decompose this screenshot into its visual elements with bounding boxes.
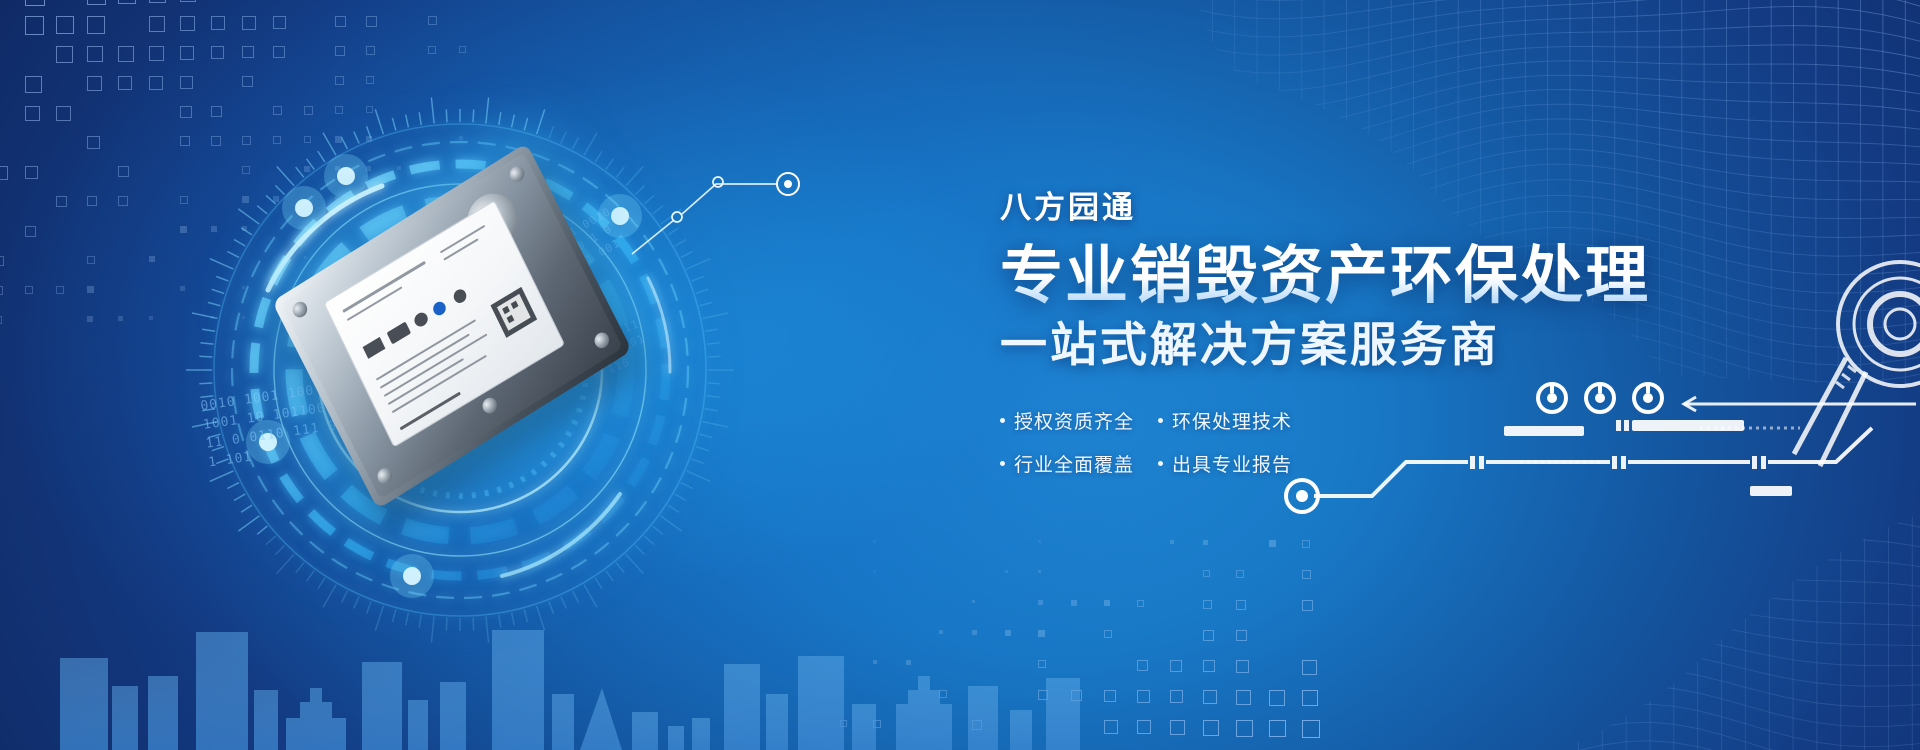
matrix-square <box>242 46 254 58</box>
matrix-square <box>0 316 2 324</box>
matrix-square <box>87 0 106 5</box>
matrix-square <box>873 540 876 543</box>
matrix-square <box>1137 720 1151 734</box>
matrix-square <box>25 106 40 121</box>
subheadline: 一站式解决方案服务商 <box>1000 319 1700 371</box>
headline: 专业销毁资产环保处理 <box>1000 243 1700 309</box>
feature-label: 行业全面覆盖 <box>1014 450 1134 477</box>
feature-item: 出具专业报告 <box>1158 450 1292 477</box>
feature-row: 行业全面覆盖 出具专业报告 <box>1000 450 1700 477</box>
matrix-square <box>1236 660 1249 673</box>
matrix-square <box>1170 690 1183 703</box>
matrix-square <box>1038 570 1041 573</box>
matrix-square <box>242 16 256 30</box>
matrix-square <box>1236 690 1251 705</box>
matrix-square <box>180 46 194 60</box>
feature-row: 授权资质齐全 环保处理技术 <box>1000 407 1700 434</box>
feature-label: 环保处理技术 <box>1172 407 1292 434</box>
feature-item: 授权资质齐全 <box>1000 407 1134 434</box>
matrix-square <box>1236 570 1244 578</box>
matrix-square <box>149 76 163 90</box>
matrix-square <box>87 76 102 91</box>
matrix-square <box>1269 690 1285 706</box>
matrix-square <box>56 46 73 63</box>
matrix-square <box>1104 720 1118 734</box>
matrix-square <box>118 0 136 4</box>
matrix-square <box>87 136 100 149</box>
matrix-square <box>1104 600 1110 606</box>
matrix-square <box>1005 570 1008 573</box>
matrix-square <box>180 16 195 31</box>
matrix-square <box>335 76 344 85</box>
matrix-square <box>428 16 437 25</box>
matrix-square <box>118 76 132 90</box>
feature-label: 出具专业报告 <box>1172 450 1292 477</box>
matrix-square <box>1269 540 1276 547</box>
matrix-square <box>1302 540 1310 548</box>
matrix-square <box>180 76 193 89</box>
matrix-square <box>428 46 436 54</box>
matrix-square <box>273 16 286 29</box>
matrix-square <box>0 286 3 295</box>
matrix-square <box>56 196 67 207</box>
matrix-square <box>56 16 74 34</box>
matrix-square <box>56 286 64 294</box>
matrix-square <box>25 0 45 6</box>
matrix-square <box>1203 540 1208 545</box>
feature-list: 授权资质齐全 环保处理技术 行业全面覆盖 出具专业报告 <box>1000 407 1700 477</box>
banner-copy: 八方园通 专业销毁资产环保处理 一站式解决方案服务商 授权资质齐全 环保处理技术… <box>1000 182 1700 493</box>
matrix-square <box>87 256 95 264</box>
promo-banner: 0010 1001 100 1001 10 101100 0 11 0 0110… <box>0 0 1920 750</box>
matrix-square <box>149 0 166 3</box>
callout-node <box>672 212 682 222</box>
matrix-square <box>1203 690 1217 704</box>
callout-target-dot <box>784 180 792 188</box>
matrix-square <box>87 196 97 206</box>
matrix-square <box>1203 570 1210 577</box>
matrix-square <box>0 256 4 266</box>
matrix-square <box>335 46 345 56</box>
hud-spark <box>295 199 313 217</box>
matrix-square <box>25 16 44 35</box>
matrix-square <box>366 16 377 27</box>
matrix-square <box>1302 720 1320 738</box>
bullet-dot-icon <box>1158 418 1163 423</box>
matrix-square <box>149 46 164 61</box>
matrix-square <box>459 46 466 53</box>
brand-name: 八方园通 <box>1000 182 1700 227</box>
matrix-square <box>1170 660 1182 672</box>
callout-node <box>713 177 723 187</box>
matrix-square <box>149 16 165 32</box>
matrix-square <box>118 316 123 321</box>
matrix-square <box>56 106 71 121</box>
hud-spark <box>403 567 421 585</box>
matrix-square <box>1302 600 1313 611</box>
matrix-square <box>87 286 94 293</box>
matrix-square <box>366 76 374 84</box>
matrix-square <box>87 46 103 62</box>
bullet-dot-icon <box>1000 418 1005 423</box>
matrix-square <box>1302 690 1318 706</box>
matrix-square <box>1104 690 1116 702</box>
matrix-square <box>87 316 93 322</box>
matrix-square <box>118 196 128 206</box>
matrix-square <box>1236 600 1246 610</box>
bullet-dot-icon <box>1000 461 1005 466</box>
matrix-square <box>1269 720 1286 737</box>
concentric-ring-right-edge <box>1750 240 1920 470</box>
matrix-square <box>1203 720 1219 736</box>
matrix-square <box>1203 660 1215 672</box>
matrix-square <box>1104 630 1112 638</box>
feature-item: 行业全面覆盖 <box>1000 450 1134 477</box>
hud-spark <box>259 433 277 451</box>
matrix-square <box>25 166 38 179</box>
matrix-square <box>1302 570 1311 579</box>
feature-item: 环保处理技术 <box>1158 407 1292 434</box>
matrix-square <box>0 166 8 180</box>
callout-connector <box>630 150 860 260</box>
bullet-dot-icon <box>1158 461 1163 466</box>
matrix-square <box>211 46 224 59</box>
matrix-square <box>242 76 253 87</box>
matrix-square <box>335 16 346 27</box>
matrix-square <box>211 16 225 30</box>
matrix-square <box>25 286 33 294</box>
matrix-square <box>118 46 134 62</box>
matrix-square <box>1137 600 1144 607</box>
matrix-square <box>273 46 285 58</box>
matrix-square <box>25 226 36 237</box>
matrix-square <box>1137 660 1148 671</box>
matrix-square <box>25 76 42 93</box>
matrix-square <box>1236 630 1247 641</box>
matrix-square <box>1170 720 1185 735</box>
matrix-square <box>180 0 196 2</box>
matrix-square <box>118 166 129 177</box>
matrix-square <box>1137 690 1150 703</box>
matrix-square <box>1302 660 1317 675</box>
feature-label: 授权资质齐全 <box>1014 407 1134 434</box>
matrix-square <box>1203 630 1214 641</box>
matrix-square <box>1038 540 1041 543</box>
hud-spark <box>337 167 355 185</box>
matrix-square <box>366 46 375 55</box>
matrix-square <box>1203 600 1212 609</box>
matrix-square <box>1236 720 1253 737</box>
matrix-square <box>1170 540 1174 544</box>
matrix-square <box>87 16 105 34</box>
hud-spark <box>611 207 629 225</box>
matrix-square <box>873 570 876 573</box>
